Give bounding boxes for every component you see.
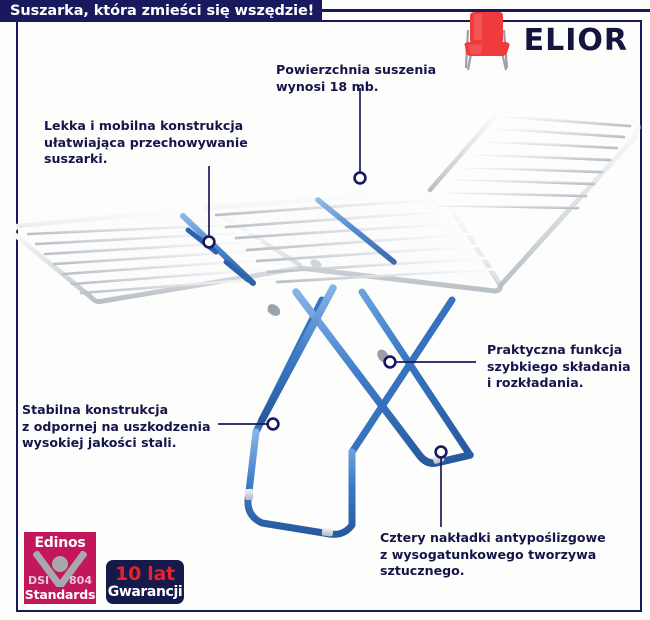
edinos-badge: Edinos DSI 804 Standards: [24, 532, 96, 604]
callout-light-construction: Lekka i mobilna konstrukcja ułatwiająca …: [44, 118, 248, 168]
marker-drying-surface: [355, 173, 366, 184]
marker-quick-folding: [385, 357, 396, 368]
brand-name: ELIOR: [524, 26, 628, 56]
edinos-title: Edinos: [34, 535, 85, 551]
warranty-label: Gwarancji: [108, 585, 183, 599]
marker-stable-steel: [268, 419, 279, 430]
product-infographic: Suszarka, która zmieści się wszędzie! EL…: [0, 0, 650, 620]
callout-stable-steel: Stabilna konstrukcja z odpornej na uszko…: [22, 402, 210, 452]
red-chair-icon: [458, 10, 516, 72]
edinos-dsi-label: DSI: [28, 574, 49, 587]
warranty-badge: 10 lat Gwarancji: [106, 560, 184, 604]
certification-badges: Edinos DSI 804 Standards 10 lat Gwarancj…: [24, 532, 184, 604]
page-title: Suszarka, która zmieści się wszędzie!: [0, 0, 322, 22]
marker-anti-slip: [436, 447, 447, 458]
marker-light-construction: [204, 237, 215, 248]
brand-logo: ELIOR: [458, 10, 628, 72]
edinos-number: 804: [69, 574, 92, 587]
callout-anti-slip: Cztery nakładki antypoślizgowe z wysogat…: [380, 530, 606, 580]
warranty-years: 10 lat: [115, 565, 175, 584]
callout-quick-folding: Praktyczna funkcja szybkiego składania i…: [487, 342, 631, 392]
edinos-standards-label: Standards: [24, 587, 96, 602]
callout-drying-surface: Powierzchnia suszenia wynosi 18 mb.: [276, 62, 436, 95]
